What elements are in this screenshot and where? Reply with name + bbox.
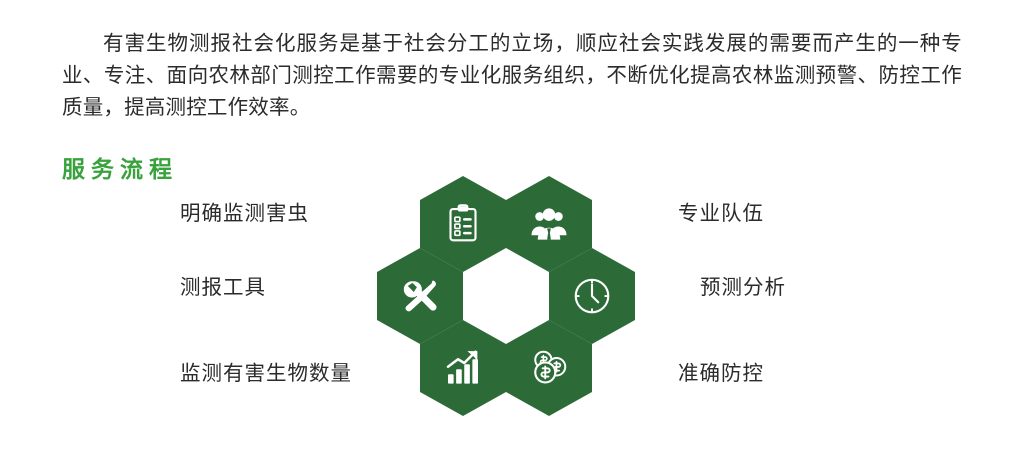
clock-icon bbox=[571, 275, 613, 317]
people-group-icon bbox=[528, 203, 570, 245]
intro-paragraph: 有害生物测报社会化服务是基于社会分工的立场，顺应社会实践发展的需要而产生的一种专… bbox=[62, 27, 962, 123]
diagram-label-left-2: 测报工具 bbox=[180, 274, 266, 300]
clipboard-checklist-icon bbox=[442, 203, 484, 245]
diagram-label-left-3: 监测有害生物数量 bbox=[180, 360, 352, 386]
diagram-label-right-2: 预测分析 bbox=[700, 274, 786, 300]
diagram-label-right-1: 专业队伍 bbox=[678, 200, 764, 226]
tools-wrench-screwdriver-icon bbox=[399, 275, 441, 317]
diagram-label-left-1: 明确监测害虫 bbox=[180, 200, 309, 226]
money-coins-dollar-icon bbox=[528, 347, 570, 389]
page-root: 有害生物测报社会化服务是基于社会分工的立场，顺应社会实践发展的需要而产生的一种专… bbox=[0, 0, 1017, 473]
diagram-label-right-3: 准确防控 bbox=[678, 360, 764, 386]
service-process-diagram: 明确监测害虫 测报工具 监测有害生物数量 专业队伍 预测分析 准确防控 bbox=[0, 172, 1017, 417]
growth-bar-chart-arrow-icon bbox=[442, 347, 484, 389]
hexagon-cluster bbox=[378, 172, 634, 412]
